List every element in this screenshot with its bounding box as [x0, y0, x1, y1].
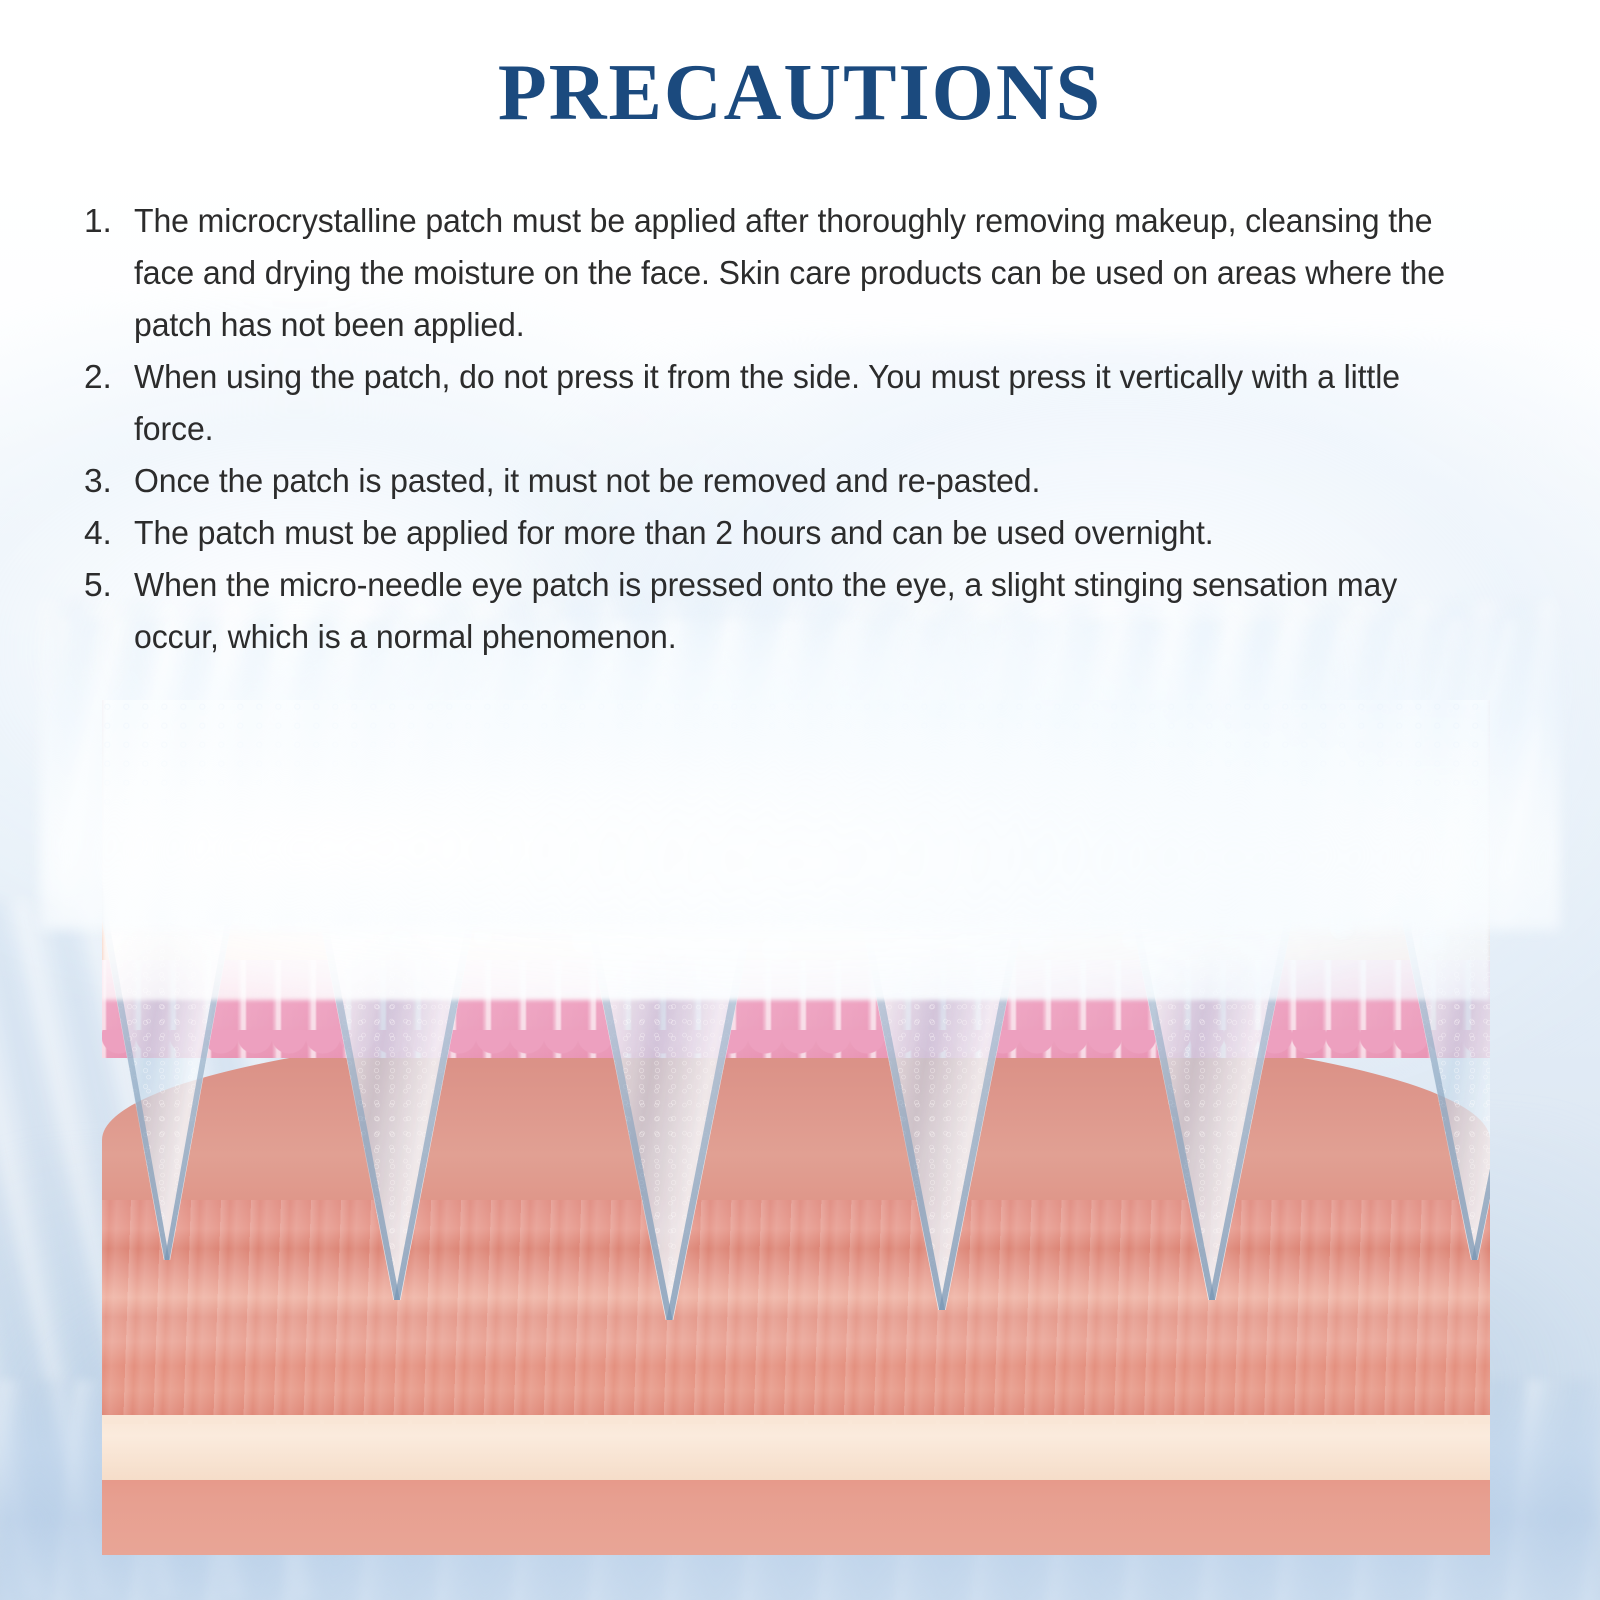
list-item-number: 5.	[84, 560, 134, 612]
list-item: 1. The microcrystalline patch must be ap…	[84, 196, 1524, 352]
precaution-list: 1. The microcrystalline patch must be ap…	[84, 196, 1524, 664]
skin-cross-section-illustration	[102, 700, 1490, 1555]
serum-bubble	[534, 900, 558, 924]
list-item-text: The patch must be applied for more than …	[134, 508, 1461, 560]
dermis-striations	[102, 1170, 1490, 1415]
list-item-text: Once the patch is pasted, it must not be…	[134, 456, 1461, 508]
list-item: 2. When using the patch, do not press it…	[84, 352, 1524, 456]
serum-bubble	[814, 904, 833, 923]
list-item-number: 3.	[84, 456, 134, 508]
list-item: 5. When the micro-needle eye patch is pr…	[84, 560, 1524, 664]
list-item-text: When the micro-needle eye patch is press…	[134, 560, 1461, 664]
page-background: PRECAUTIONS 1. The microcrystalline patc…	[0, 0, 1600, 1600]
serum-bubble	[1330, 916, 1354, 940]
list-item-number: 4.	[84, 508, 134, 560]
list-item-text: The microcrystalline patch must be appli…	[134, 196, 1461, 352]
list-item: 4. The patch must be applied for more th…	[84, 508, 1524, 560]
serum-bubble	[1074, 906, 1100, 932]
list-item-number: 1.	[84, 196, 134, 248]
page-title: PRECAUTIONS	[0, 48, 1600, 139]
list-item: 3. Once the patch is pasted, it must not…	[84, 456, 1524, 508]
list-item-text: When using the patch, do not press it fr…	[134, 352, 1461, 456]
serum-bubble	[254, 906, 280, 932]
serum-bubble	[298, 896, 318, 916]
serum-bubble	[1020, 922, 1054, 956]
basal-scallop-edge	[102, 1030, 1490, 1074]
list-item-number: 2.	[84, 352, 134, 404]
